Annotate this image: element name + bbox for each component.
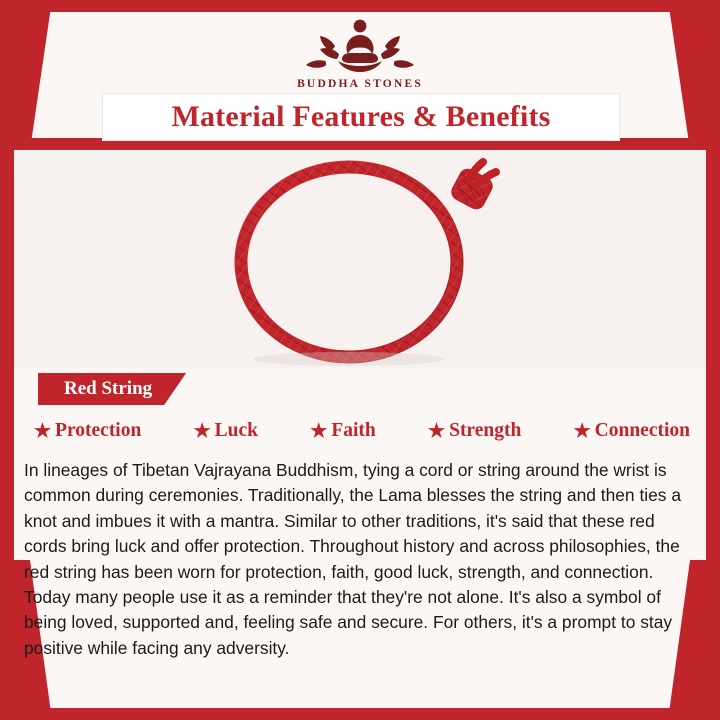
benefit-list: ★ Protection ★ Luck ★ Faith ★ Strength ★…	[34, 420, 690, 442]
benefit-item: ★ Faith	[310, 420, 375, 442]
star-icon: ★	[574, 422, 591, 441]
benefit-item: ★ Connection	[574, 420, 690, 442]
description-text: In lineages of Tibetan Vajrayana Buddhis…	[24, 458, 696, 661]
benefit-item: ★ Protection	[34, 420, 141, 442]
brand-name: BUDDHA STONES	[0, 78, 720, 90]
product-label: Red String	[64, 378, 152, 400]
star-icon: ★	[428, 422, 445, 441]
benefit-item: ★ Luck	[194, 420, 258, 442]
benefit-label: Faith	[331, 420, 375, 442]
benefit-label: Strength	[449, 420, 521, 442]
red-braided-string-bracelet-image	[14, 150, 706, 368]
frame-edge-top	[0, 0, 720, 12]
star-icon: ★	[310, 422, 327, 441]
star-icon: ★	[194, 422, 211, 441]
infographic-page: BUDDHA STONES Material Features & Benefi…	[0, 0, 720, 720]
benefit-label: Luck	[215, 420, 258, 442]
page-title-bar: Material Features & Benefits	[102, 93, 620, 141]
benefit-item: ★ Strength	[428, 420, 521, 442]
benefit-label: Protection	[55, 420, 141, 442]
product-label-ribbon: Red String	[38, 373, 186, 405]
brand-logo: BUDDHA STONES	[0, 14, 720, 90]
lotus-meditation-figure-icon	[301, 14, 419, 76]
star-icon: ★	[34, 422, 51, 441]
product-photo	[14, 150, 706, 368]
page-title: Material Features & Benefits	[171, 100, 550, 134]
benefit-label: Connection	[595, 420, 690, 442]
frame-edge-bottom	[0, 708, 720, 720]
